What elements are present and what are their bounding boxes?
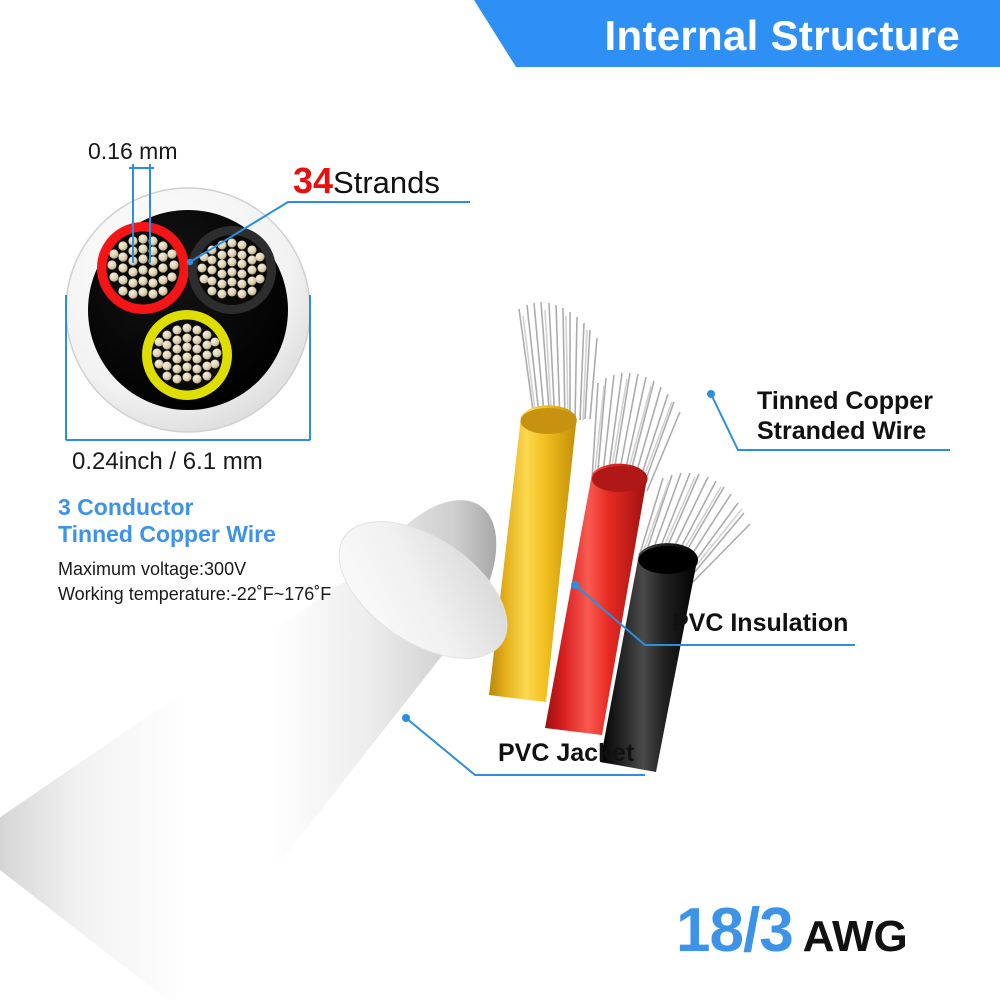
callout-tinned-copper-stranded-wire: Tinned Copper Stranded Wire (757, 386, 933, 446)
awg-gauge-value: 18/3 (676, 896, 793, 965)
outer-diameter-label: 0.24inch / 6.1 mm (72, 448, 263, 476)
strand-diameter-label: 0.16 mm (88, 138, 177, 165)
callout-line-2: Stranded Wire (757, 416, 933, 446)
strands-count-callout: 34Strands (293, 160, 440, 202)
cross-section-red-conductor (97, 222, 189, 314)
callout-line-1: Tinned Copper (757, 386, 933, 416)
cross-section-diagram (66, 164, 470, 440)
strands-count-value: 34 (293, 160, 333, 201)
cross-section-black-conductor (188, 226, 276, 314)
spec-title: 3 Conductor Tinned Copper Wire (58, 494, 276, 548)
spec-max-voltage: Maximum voltage:300V (58, 557, 331, 582)
awg-rating: 18/3AWG (676, 898, 908, 980)
awg-unit-label: AWG (803, 912, 908, 961)
cross-section-yellow-conductor (142, 310, 232, 400)
callout-line-1: PVC Insulation (672, 608, 848, 638)
callout-line-1: PVC Jacket (498, 738, 634, 768)
strands-count-word: Strands (333, 165, 440, 200)
callout-pvc-insulation: PVC Insulation (672, 608, 848, 638)
spec-details: Maximum voltage:300V Working temperature… (58, 557, 331, 607)
spec-title-line1: 3 Conductor (58, 494, 276, 521)
page-title: Internal Structure (605, 8, 960, 64)
spec-working-temperature: Working temperature:-22˚F~176˚F (58, 582, 331, 607)
infographic-canvas: Internal Structure 0.16 mm 0.24inch / 6.… (0, 0, 1000, 1000)
spec-title-line2: Tinned Copper Wire (58, 521, 276, 548)
callout-pvc-jacket: PVC Jacket (498, 738, 634, 768)
